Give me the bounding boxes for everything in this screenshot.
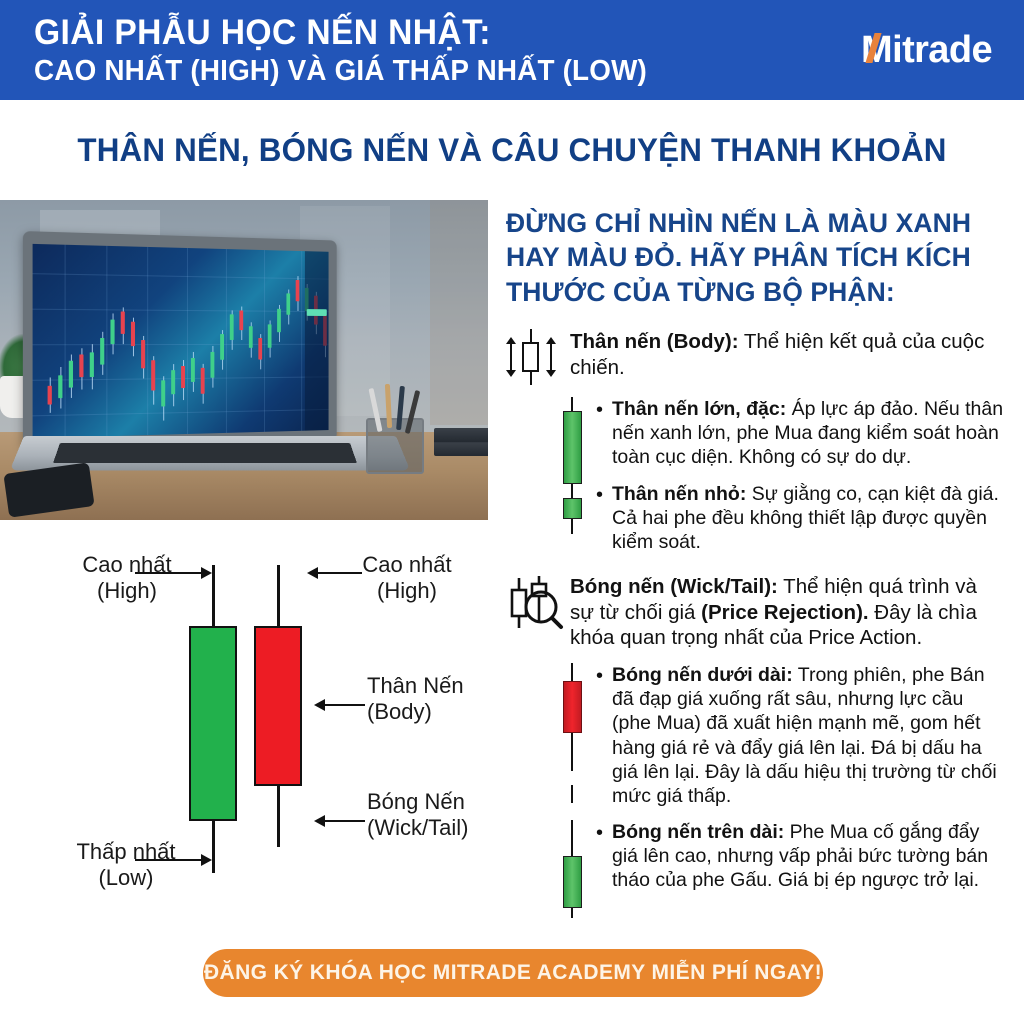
- sub-upper-wick-text: Bóng nến trên dài: Phe Mua cố gắng đẩy g…: [612, 820, 1006, 892]
- small-green-candle-icon: [548, 482, 596, 554]
- arrow-body: [325, 704, 365, 706]
- candle-magnifier-icon: [506, 574, 570, 630]
- sub-lower-wick: • Bóng nến dưới dài: Trong phiên, phe Bá…: [506, 663, 1006, 807]
- pen-cup-icon: [366, 418, 424, 474]
- chart-candle: [48, 377, 52, 412]
- photo-window-pane: [430, 200, 488, 425]
- bullish-candle-body: [189, 626, 237, 821]
- bearish-candle-body: [254, 626, 302, 786]
- header-title-line2: CAO NHẤT (HIGH) VÀ GIÁ THẤP NHẤT (LOW): [34, 57, 647, 86]
- right-column: ĐỪNG CHỈ NHÌN NẾN LÀ MÀU XANH HAY MÀU ĐỎ…: [506, 206, 1006, 892]
- block-wick-title: Bóng nến (Wick/Tail):: [570, 575, 778, 598]
- sub-upper-wick-title: Bóng nến trên dài:: [612, 821, 784, 843]
- arrow-up-down-left-icon: [510, 343, 512, 371]
- sub-large-body-text: Thân nến lớn, đặc: Áp lực áp đảo. Nếu th…: [612, 397, 1006, 469]
- long-upper-wick-green-candle-icon: [548, 820, 596, 892]
- arrow-wick: [325, 820, 365, 822]
- bullet-icon: •: [596, 397, 612, 422]
- label-high-left: Cao nhất (High): [79, 552, 175, 604]
- long-lower-wick-red-candle-icon: [548, 663, 596, 807]
- section-title: THÂN NẾN, BÓNG NẾN VÀ CÂU CHUYỆN THANH K…: [10, 100, 1014, 200]
- candlestick-diagram-card: Cao nhất (High) Cao nhất (High) Thân Nến…: [37, 521, 488, 921]
- candlestick-diagram: Cao nhất (High) Cao nhất (High) Thân Nến…: [37, 521, 488, 921]
- mitrade-logo[interactable]: M itrade: [861, 29, 1002, 72]
- sub-small-body-text: Thân nến nhỏ: Sự giằng co, cạn kiệt đà g…: [612, 482, 1006, 554]
- bullet-icon: •: [596, 482, 612, 507]
- label-low: Thấp nhất (Low): [73, 839, 179, 891]
- arrow-head-high-right-icon: [307, 567, 318, 579]
- label-wick: Bóng Nến (Wick/Tail): [367, 789, 468, 841]
- block-wick: Bóng nến (Wick/Tail): Thể hiện quá trình…: [506, 574, 1006, 651]
- arrow-high-right: [318, 572, 362, 574]
- right-column-heading: ĐỪNG CHỈ NHÌN NẾN LÀ MÀU XANH HAY MÀU ĐỎ…: [506, 206, 1006, 309]
- header-title-group: GIẢI PHẪU HỌC NẾN NHẬT: CAO NHẤT (HIGH) …: [34, 15, 647, 86]
- arrow-head-high-left-icon: [201, 567, 212, 579]
- logo-wordmark: itrade: [892, 29, 992, 72]
- label-body: Thân Nến (Body): [367, 673, 464, 725]
- right-heading-line1: ĐỪNG CHỈ NHÌN NẾN LÀ MÀU XANH: [506, 206, 1006, 240]
- left-column: Cao nhất (High) Cao nhất (High) Thân Nến…: [0, 200, 488, 930]
- bullet-icon: •: [596, 663, 612, 688]
- arrow-head-body-icon: [314, 699, 325, 711]
- sub-lower-wick-title: Bóng nến dưới dài:: [612, 664, 793, 686]
- arrow-head-wick-icon: [314, 815, 325, 827]
- arrow-up-down-right-icon: [550, 343, 552, 371]
- candle-magnifier-svg: [506, 574, 568, 634]
- block-body-text: Thân nến (Body): Thể hiện kết quả của cu…: [570, 329, 1006, 381]
- laptop-trading-photo: [0, 200, 488, 520]
- laptop-screen: [33, 244, 329, 438]
- chart-price-marker: [307, 309, 327, 316]
- laptop-lid: [23, 231, 337, 447]
- header-title-line1: GIẢI PHẪU HỌC NẾN NHẬT:: [34, 15, 647, 50]
- arrow-head-low-icon: [201, 854, 212, 866]
- block-body-title: Thân nến (Body):: [570, 330, 739, 353]
- candle-body-size-icon: [506, 329, 570, 385]
- laptop-keyboard: [53, 443, 357, 463]
- arrow-low: [135, 859, 203, 861]
- books-stack: [434, 428, 488, 456]
- sub-large-body: • Thân nến lớn, đặc: Áp lực áp đảo. Nếu …: [506, 397, 1006, 469]
- right-heading-line2: HAY MÀU ĐỎ. HÃY PHÂN TÍCH KÍCH: [506, 240, 1006, 274]
- sub-small-body-title: Thân nến nhỏ:: [612, 483, 746, 505]
- chart-price-axis: [305, 251, 329, 431]
- block-body: Thân nến (Body): Thể hiện kết quả của cu…: [506, 329, 1006, 385]
- right-heading-line3: THƯỚC CỦA TỪNG BỘ PHẬN:: [506, 275, 1006, 309]
- block-wick-text: Bóng nến (Wick/Tail): Thể hiện quá trình…: [570, 574, 1006, 651]
- block-wick-bold2: (Price Rejection).: [701, 601, 868, 624]
- logo-letter-m: M: [861, 29, 892, 72]
- label-high-right: Cao nhất (High): [357, 552, 457, 604]
- infographic-page: GIẢI PHẪU HỌC NẾN NHẬT: CAO NHẤT (HIGH) …: [0, 0, 1024, 1024]
- register-course-button[interactable]: ĐĂNG KÝ KHÓA HỌC MITRADE ACADEMY MIỄN PH…: [203, 949, 823, 997]
- sub-upper-wick: • Bóng nến trên dài: Phe Mua cố gắng đẩy…: [506, 820, 1006, 892]
- sub-lower-wick-text: Bóng nến dưới dài: Trong phiên, phe Bán …: [612, 663, 1006, 807]
- sub-large-body-title: Thân nến lớn, đặc:: [612, 398, 786, 420]
- arrow-high-left: [135, 572, 203, 574]
- large-green-candle-icon: [548, 397, 596, 469]
- bullet-icon: •: [596, 820, 612, 845]
- header-bar: GIẢI PHẪU HỌC NẾN NHẬT: CAO NHẤT (HIGH) …: [0, 0, 1024, 100]
- sub-small-body: • Thân nến nhỏ: Sự giằng co, cạn kiệt đà…: [506, 482, 1006, 554]
